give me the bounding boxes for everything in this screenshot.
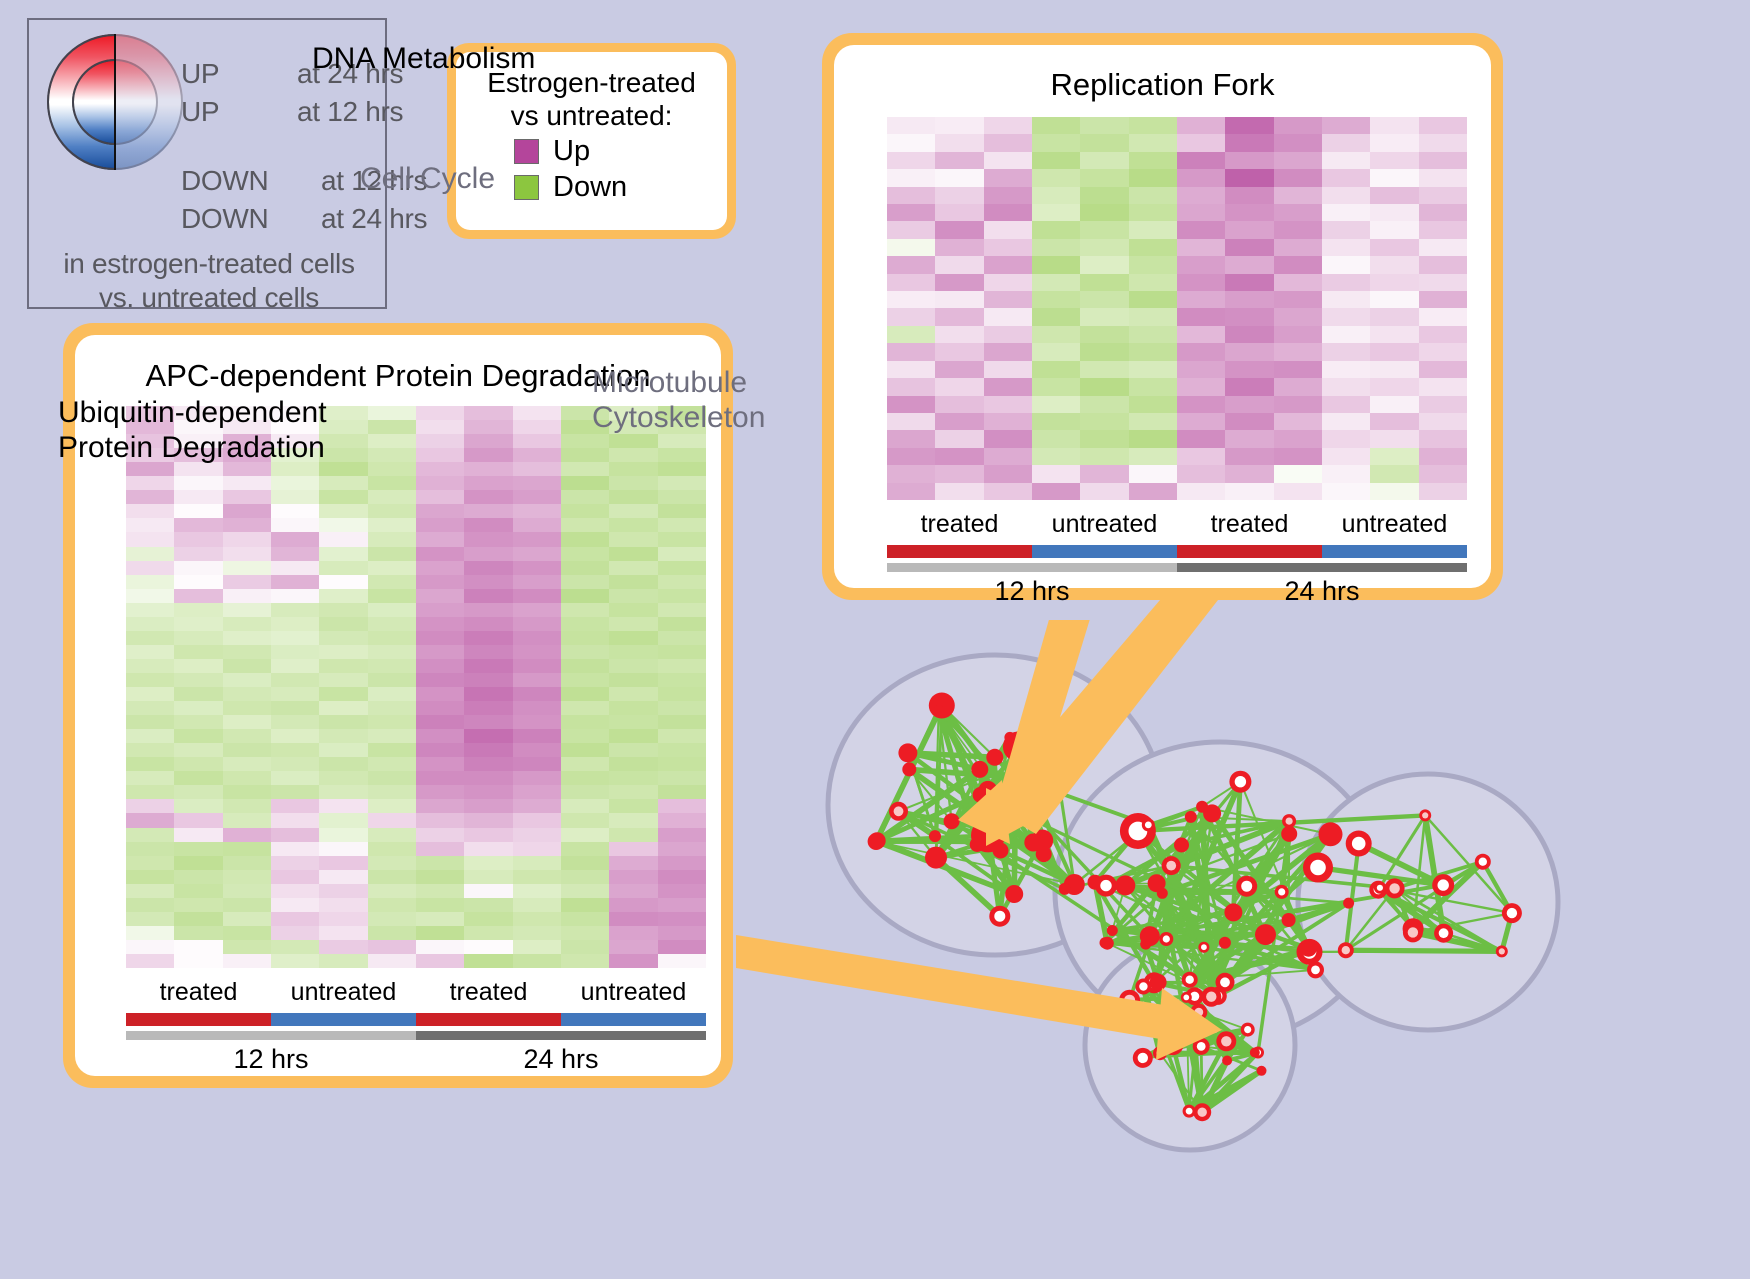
network-node[interactable] bbox=[1281, 826, 1297, 842]
network-node[interactable] bbox=[1115, 875, 1135, 895]
network-node-outer bbox=[898, 743, 917, 762]
network-node[interactable] bbox=[1229, 771, 1251, 793]
network-node[interactable] bbox=[1159, 932, 1173, 946]
heatmap-cell bbox=[658, 547, 706, 561]
heatmap-cell bbox=[1274, 256, 1322, 273]
heatmap-cell bbox=[368, 785, 416, 799]
heatmap-cell bbox=[1225, 291, 1273, 308]
network-node-outer bbox=[944, 813, 960, 829]
heatmap-cell bbox=[416, 884, 464, 898]
heatmap-cell bbox=[368, 912, 416, 926]
network-node[interactable] bbox=[1343, 898, 1354, 909]
network-node[interactable] bbox=[1193, 1103, 1211, 1121]
heatmap-cell bbox=[1129, 187, 1177, 204]
heatmap-cell bbox=[513, 603, 561, 617]
heatmap-cell bbox=[174, 771, 222, 785]
network-node[interactable] bbox=[993, 843, 1009, 859]
network-node-outer bbox=[934, 705, 944, 715]
heatmap-cell bbox=[464, 912, 512, 926]
heatmap-cell bbox=[561, 575, 609, 589]
heatmap-cell bbox=[174, 785, 222, 799]
heatmap-cell bbox=[319, 687, 367, 701]
heatmap-cell bbox=[1177, 361, 1225, 378]
network-node[interactable] bbox=[1432, 874, 1454, 896]
heatmap-cell bbox=[561, 912, 609, 926]
network-node[interactable] bbox=[1338, 942, 1354, 958]
network-node[interactable] bbox=[1203, 804, 1221, 822]
network-node-outer bbox=[1281, 826, 1297, 842]
network-node[interactable] bbox=[1282, 913, 1296, 927]
heatmap-cell bbox=[1129, 326, 1177, 343]
network-node[interactable] bbox=[1119, 990, 1140, 1011]
replication-fork-time-labels: 12 hrs24 hrs bbox=[887, 576, 1467, 607]
heatmap-cell bbox=[1419, 134, 1467, 151]
condition-label: treated bbox=[1177, 510, 1322, 539]
heatmap-cell bbox=[223, 547, 271, 561]
heatmap-cell bbox=[1370, 361, 1418, 378]
heatmap-cell bbox=[609, 856, 657, 870]
heatmap-cell bbox=[416, 898, 464, 912]
heatmap-cell bbox=[1419, 483, 1467, 500]
network-node-core bbox=[1191, 1028, 1200, 1037]
network-node[interactable] bbox=[1185, 811, 1197, 823]
network-node[interactable] bbox=[902, 762, 916, 776]
heatmap-cell bbox=[223, 842, 271, 856]
network-node-core bbox=[1244, 1026, 1251, 1033]
heatmap-cell bbox=[174, 532, 222, 546]
network-node-outer bbox=[1319, 822, 1343, 846]
heatmap-cell bbox=[174, 504, 222, 518]
heatmap-cell bbox=[935, 448, 983, 465]
heatmap-cell bbox=[416, 434, 464, 448]
heatmap-cell bbox=[174, 813, 222, 827]
heatmap-cell bbox=[1370, 378, 1418, 395]
legend-state-down-24: DOWN bbox=[181, 203, 268, 235]
heatmap-cell bbox=[368, 715, 416, 729]
heatmap-cell bbox=[271, 940, 319, 954]
heatmap-cell bbox=[984, 134, 1032, 151]
heatmap-cell bbox=[368, 589, 416, 603]
heatmap-cell bbox=[1129, 204, 1177, 221]
heatmap-cell bbox=[223, 757, 271, 771]
network-node[interactable] bbox=[1307, 961, 1324, 978]
heatmap-cell bbox=[609, 701, 657, 715]
heatmap-cell bbox=[1129, 343, 1177, 360]
heatmap-cell bbox=[658, 757, 706, 771]
network-node[interactable] bbox=[986, 749, 1003, 766]
heatmap-cell bbox=[174, 898, 222, 912]
heatmap-cell bbox=[513, 799, 561, 813]
network-node[interactable] bbox=[1216, 973, 1235, 992]
heatmap-cell bbox=[984, 221, 1032, 238]
heatmap-cell bbox=[1322, 134, 1370, 151]
network-node-core bbox=[1278, 888, 1285, 895]
network-node[interactable] bbox=[1162, 1033, 1184, 1055]
heatmap-cell bbox=[271, 912, 319, 926]
heatmap-cell bbox=[609, 547, 657, 561]
heatmap-cell bbox=[984, 169, 1032, 186]
heatmap-cell bbox=[319, 926, 367, 940]
heatmap-cell bbox=[368, 771, 416, 785]
network-node-core bbox=[1194, 1008, 1203, 1017]
condition-label: untreated bbox=[1032, 510, 1177, 539]
heatmap-cell bbox=[1274, 152, 1322, 169]
heatmap-cell bbox=[609, 715, 657, 729]
network-node[interactable] bbox=[1039, 705, 1057, 723]
heatmap-cell bbox=[658, 842, 706, 856]
network-node-outer bbox=[1010, 759, 1021, 770]
heatmap-cell bbox=[561, 715, 609, 729]
network-node[interactable] bbox=[1095, 875, 1117, 897]
heatmap-cell bbox=[513, 532, 561, 546]
network-node[interactable] bbox=[1010, 759, 1021, 770]
heatmap-cell bbox=[174, 799, 222, 813]
heatmap-cell bbox=[271, 842, 319, 856]
heatmap-cell bbox=[1080, 274, 1128, 291]
heatmap-cell bbox=[223, 532, 271, 546]
heatmap-cell bbox=[984, 361, 1032, 378]
heatmap-cell bbox=[984, 326, 1032, 343]
heatmap-cell bbox=[368, 813, 416, 827]
heatmap-cell bbox=[984, 239, 1032, 256]
network-node[interactable] bbox=[1009, 770, 1023, 784]
heatmap-cell bbox=[223, 828, 271, 842]
network-node[interactable] bbox=[1236, 876, 1257, 897]
heatmap-cell bbox=[658, 518, 706, 532]
network-node-outer bbox=[970, 837, 985, 852]
heatmap-cell bbox=[368, 673, 416, 687]
network-node[interactable] bbox=[934, 705, 944, 715]
heatmap-cell bbox=[223, 617, 271, 631]
heatmap-cell bbox=[223, 673, 271, 687]
network-node[interactable] bbox=[1059, 883, 1071, 895]
swatch-up-icon bbox=[514, 139, 539, 164]
heatmap-cell bbox=[561, 603, 609, 617]
heatmap-cell bbox=[658, 575, 706, 589]
heatmap-cell bbox=[464, 645, 512, 659]
heatmap-cell bbox=[1225, 134, 1273, 151]
heatmap-cell bbox=[174, 561, 222, 575]
network-node[interactable] bbox=[1181, 992, 1192, 1003]
network-node[interactable] bbox=[970, 837, 985, 852]
network-node[interactable] bbox=[1100, 937, 1111, 948]
network-node[interactable] bbox=[1255, 924, 1276, 945]
heatmap-cell bbox=[271, 813, 319, 827]
network-node[interactable] bbox=[1222, 1056, 1232, 1066]
heatmap-cell bbox=[126, 926, 174, 940]
heatmap-cell bbox=[1370, 430, 1418, 447]
heatmap-cell bbox=[319, 828, 367, 842]
heatmap-cell bbox=[513, 898, 561, 912]
network-node-outer bbox=[1005, 885, 1023, 903]
heatmap-cell bbox=[126, 757, 174, 771]
heatmap-cell bbox=[416, 673, 464, 687]
network-node[interactable] bbox=[1219, 937, 1231, 949]
heatmap-cell bbox=[223, 659, 271, 673]
heatmap-cell bbox=[319, 940, 367, 954]
heatmap-cell bbox=[1419, 274, 1467, 291]
heatmap-cell bbox=[1080, 117, 1128, 134]
network-node[interactable] bbox=[898, 743, 917, 762]
network-node[interactable] bbox=[1275, 885, 1289, 899]
network-node[interactable] bbox=[1250, 1048, 1260, 1058]
network-node[interactable] bbox=[1496, 945, 1508, 957]
heatmap-cell bbox=[513, 701, 561, 715]
heatmap-cell bbox=[464, 673, 512, 687]
heatmap-cell bbox=[609, 954, 657, 968]
heatmap-cell bbox=[1322, 413, 1370, 430]
heatmap-cell bbox=[609, 462, 657, 476]
heatmap-cell bbox=[1177, 378, 1225, 395]
heatmap-cell bbox=[1419, 448, 1467, 465]
heatmap-cell bbox=[561, 799, 609, 813]
heatmap-cell bbox=[223, 504, 271, 518]
network-node[interactable] bbox=[1434, 924, 1453, 943]
network-node-core bbox=[1220, 977, 1230, 987]
network-node[interactable] bbox=[868, 833, 885, 850]
heatmap-cell bbox=[464, 729, 512, 743]
heatmap-cell bbox=[1274, 343, 1322, 360]
heatmap-cell bbox=[271, 729, 319, 743]
heatmap-cell bbox=[658, 617, 706, 631]
heatmap-cell bbox=[1322, 430, 1370, 447]
heatmap-cell bbox=[223, 589, 271, 603]
heatmap-cell bbox=[368, 532, 416, 546]
heatmap-cell bbox=[416, 870, 464, 884]
heatmap-cell bbox=[935, 361, 983, 378]
network-node[interactable] bbox=[1241, 1023, 1255, 1037]
heatmap-cell bbox=[513, 434, 561, 448]
heatmap-cell bbox=[1322, 117, 1370, 134]
heatmap-cell bbox=[658, 490, 706, 504]
heatmap-cell bbox=[1032, 361, 1080, 378]
network-node[interactable] bbox=[1346, 831, 1372, 857]
heatmap-cell bbox=[1274, 117, 1322, 134]
heatmap-cell bbox=[319, 954, 367, 968]
network-node[interactable] bbox=[1190, 1004, 1207, 1021]
heatmap-cell bbox=[1177, 343, 1225, 360]
heatmap-cell bbox=[1370, 396, 1418, 413]
heatmap-cell bbox=[1225, 413, 1273, 430]
heatmap-cell bbox=[561, 617, 609, 631]
network-node-core bbox=[1241, 881, 1252, 892]
network-node[interactable] bbox=[929, 830, 941, 842]
network-node[interactable] bbox=[1140, 926, 1160, 946]
network-node[interactable] bbox=[1150, 974, 1167, 991]
heatmap-cell bbox=[561, 547, 609, 561]
heatmap-cell bbox=[513, 659, 561, 673]
heatmap-cell bbox=[1129, 465, 1177, 482]
network-node[interactable] bbox=[929, 693, 955, 719]
heatmap-cell bbox=[1322, 378, 1370, 395]
network-node[interactable] bbox=[1142, 818, 1155, 831]
bar-treated-24 bbox=[1177, 545, 1322, 558]
heatmap-cell bbox=[174, 687, 222, 701]
network-node-outer bbox=[1100, 937, 1111, 948]
network-node[interactable] bbox=[1004, 732, 1015, 743]
heatmap-cell bbox=[658, 448, 706, 462]
heatmap-cell bbox=[1370, 343, 1418, 360]
heatmap-cell bbox=[513, 729, 561, 743]
heatmap-cell bbox=[513, 940, 561, 954]
network-node[interactable] bbox=[1303, 853, 1333, 883]
heatmap-cell bbox=[887, 396, 935, 413]
heatmap-cell bbox=[319, 617, 367, 631]
heatmap-cell bbox=[513, 518, 561, 532]
heatmap-cell bbox=[609, 926, 657, 940]
heatmap-cell bbox=[464, 476, 512, 490]
heatmap-cell bbox=[464, 631, 512, 645]
network-node[interactable] bbox=[925, 847, 947, 869]
network-node[interactable] bbox=[1162, 856, 1181, 875]
heatmap-cell bbox=[1419, 204, 1467, 221]
network-node[interactable] bbox=[1216, 1031, 1236, 1051]
network-node[interactable] bbox=[1193, 1038, 1210, 1055]
heatmap-cell bbox=[1225, 256, 1273, 273]
network-node[interactable] bbox=[1419, 809, 1431, 821]
heatmap-cell bbox=[609, 434, 657, 448]
heatmap-cell bbox=[1032, 465, 1080, 482]
heatmap-cell bbox=[416, 743, 464, 757]
heatmap-cell bbox=[1032, 308, 1080, 325]
heatmap-cell bbox=[561, 813, 609, 827]
heatmap-cell bbox=[1370, 483, 1418, 500]
network-node[interactable] bbox=[1224, 903, 1242, 921]
heatmap-cell bbox=[1129, 448, 1177, 465]
network-node[interactable] bbox=[1319, 822, 1343, 846]
heatmap-cell bbox=[368, 757, 416, 771]
heatmap-cell bbox=[1274, 430, 1322, 447]
heatmap-cell bbox=[658, 504, 706, 518]
heatmap-cell bbox=[561, 940, 609, 954]
heatmap-cell bbox=[984, 117, 1032, 134]
heatmap-cell bbox=[319, 771, 367, 785]
bar-untreated-24 bbox=[1322, 545, 1467, 558]
network-node[interactable] bbox=[1182, 972, 1198, 988]
bar-treated-12 bbox=[126, 1013, 271, 1026]
network-node-core bbox=[994, 911, 1005, 922]
heatmap-cell bbox=[984, 256, 1032, 273]
network-node[interactable] bbox=[1107, 925, 1118, 936]
network-node[interactable] bbox=[1027, 793, 1046, 812]
heatmap-cell bbox=[319, 884, 367, 898]
heatmap-cell bbox=[416, 532, 464, 546]
heatmap-cell bbox=[464, 940, 512, 954]
network-node-core bbox=[1183, 995, 1189, 1001]
network-node[interactable] bbox=[1201, 987, 1221, 1007]
heatmap-cell bbox=[368, 954, 416, 968]
heatmap-cell bbox=[464, 561, 512, 575]
heatmap-cell bbox=[126, 645, 174, 659]
heatmap-cell bbox=[1080, 465, 1128, 482]
heatmap-cell bbox=[126, 842, 174, 856]
network-node[interactable] bbox=[971, 761, 988, 778]
network-node[interactable] bbox=[1475, 854, 1491, 870]
heatmap-cell bbox=[609, 912, 657, 926]
heatmap-cell bbox=[126, 617, 174, 631]
heatmap-cell bbox=[609, 884, 657, 898]
heatmap-cell bbox=[887, 326, 935, 343]
heatmap-cell bbox=[1080, 204, 1128, 221]
heatmap-cell bbox=[223, 603, 271, 617]
network-node[interactable] bbox=[889, 802, 908, 821]
replication-fork-condition-labels: treateduntreatedtreateduntreated bbox=[887, 510, 1467, 539]
heatmap-cell bbox=[464, 701, 512, 715]
heatmap-cell bbox=[1274, 465, 1322, 482]
network-node[interactable] bbox=[1300, 940, 1317, 957]
network-node[interactable] bbox=[1148, 874, 1166, 892]
network-node[interactable] bbox=[1198, 942, 1209, 953]
heatmap-cell bbox=[319, 757, 367, 771]
heatmap-cell bbox=[1322, 343, 1370, 360]
heatmap-cell bbox=[887, 117, 935, 134]
network-node[interactable] bbox=[1502, 903, 1522, 923]
network-node[interactable] bbox=[944, 813, 960, 829]
heatmap-cell bbox=[1322, 152, 1370, 169]
heatmap-cell bbox=[126, 490, 174, 504]
heatmap-cell bbox=[223, 785, 271, 799]
heatmap-cell bbox=[609, 631, 657, 645]
heatmap-cell bbox=[271, 561, 319, 575]
heatmap-cell bbox=[271, 687, 319, 701]
network-node[interactable] bbox=[989, 906, 1010, 927]
heatmap-cell bbox=[416, 518, 464, 532]
heatmap-cell bbox=[1129, 117, 1177, 134]
heatmap-cell bbox=[1080, 291, 1128, 308]
heatmap-cell bbox=[561, 743, 609, 757]
network-node[interactable] bbox=[1257, 1066, 1267, 1076]
network-node[interactable] bbox=[1005, 885, 1023, 903]
heatmap-cell bbox=[319, 912, 367, 926]
heatmap-cell bbox=[1370, 117, 1418, 134]
heatmap-cell bbox=[513, 785, 561, 799]
network-node-core bbox=[1198, 1108, 1207, 1117]
heatmap-cell bbox=[319, 448, 367, 462]
network-node[interactable] bbox=[1174, 838, 1189, 853]
heatmap-cell bbox=[1080, 221, 1128, 238]
heatmap-cell bbox=[319, 434, 367, 448]
heatmap-cell bbox=[1274, 134, 1322, 151]
heatmap-cell bbox=[464, 490, 512, 504]
heatmap-cell bbox=[1129, 291, 1177, 308]
heatmap-cell bbox=[368, 617, 416, 631]
network-node[interactable] bbox=[973, 787, 989, 803]
bar-untreated-24 bbox=[561, 1013, 706, 1026]
heatmap-cell bbox=[464, 856, 512, 870]
network-node[interactable] bbox=[1385, 878, 1405, 898]
network-node[interactable] bbox=[1024, 834, 1042, 852]
heatmap-cell bbox=[223, 954, 271, 968]
heatmap-cell bbox=[368, 687, 416, 701]
network-node[interactable] bbox=[1133, 1048, 1153, 1068]
heatmap-cell bbox=[174, 617, 222, 631]
heatmap-cell bbox=[464, 954, 512, 968]
heatmap-cell bbox=[464, 589, 512, 603]
network-node[interactable] bbox=[1374, 882, 1386, 894]
cluster-label-ubiquitin-line1: Ubiquitin-dependent bbox=[58, 396, 327, 431]
heatmap-cell bbox=[1080, 152, 1128, 169]
heatmap-cell bbox=[174, 547, 222, 561]
heatmap-cell bbox=[658, 828, 706, 842]
heatmap-cell bbox=[223, 771, 271, 785]
heatmap-cell bbox=[935, 256, 983, 273]
heatmap-cell bbox=[935, 308, 983, 325]
heatmap-cell bbox=[561, 645, 609, 659]
heatmap-cell bbox=[1370, 187, 1418, 204]
network-node[interactable] bbox=[1403, 922, 1423, 942]
network-node[interactable] bbox=[1135, 979, 1151, 995]
heatmap-cell bbox=[561, 631, 609, 645]
